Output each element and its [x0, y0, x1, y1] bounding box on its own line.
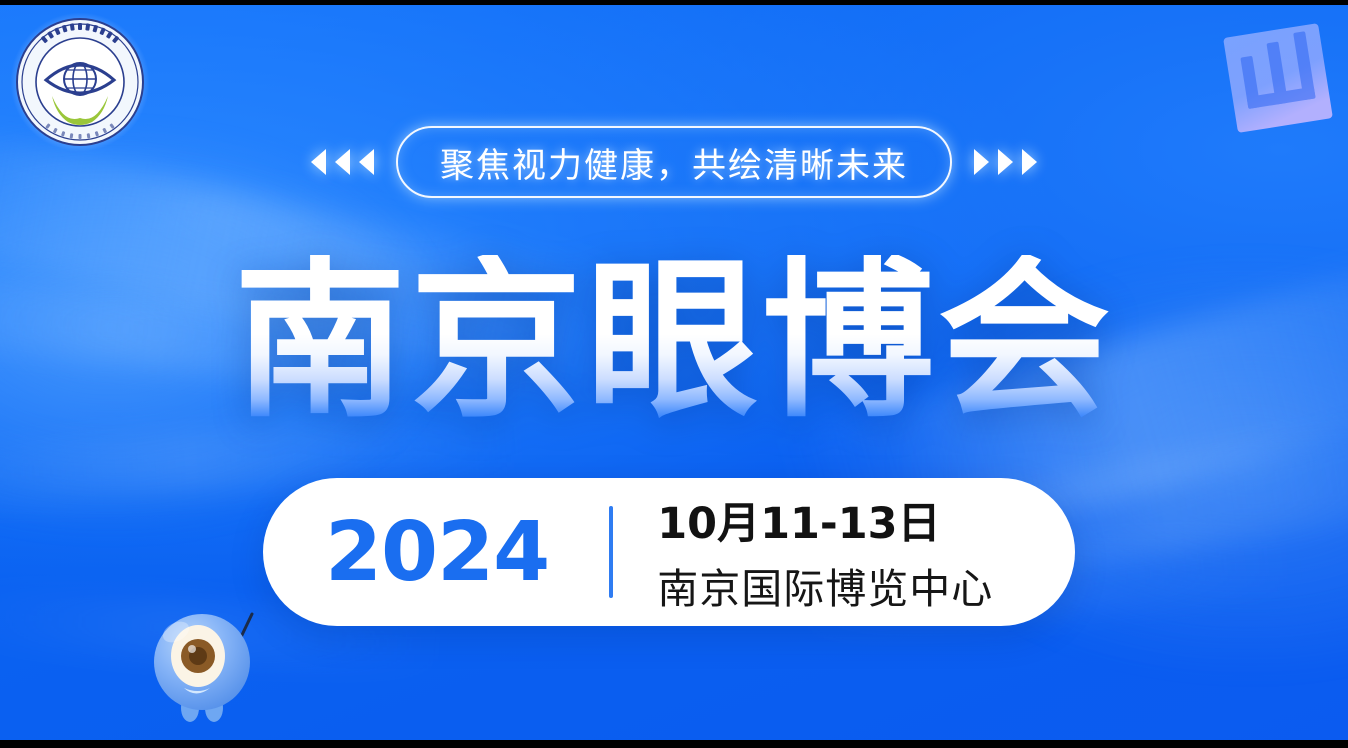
event-info-card: 2024 10月11-13日 南京国际博览中心 [263, 478, 1075, 626]
main-title-text: 南京眼博会 [234, 255, 1114, 427]
tagline-row: 聚焦视力健康，共绘清晰未来 [0, 124, 1348, 200]
eyeball-mascot-icon [148, 604, 272, 736]
tagline-text: 聚焦视力健康，共绘清晰未来 [440, 138, 908, 187]
event-details: 10月11-13日 南京国际博览中心 [657, 489, 993, 615]
event-date: 10月11-13日 [657, 489, 993, 551]
triangle-left-icon [359, 149, 374, 175]
letterbox-bottom [0, 740, 1348, 748]
triangle-right-icon [1022, 149, 1037, 175]
triangle-right-icon [974, 149, 989, 175]
shan-mountain-mark-icon [1219, 19, 1338, 138]
tagline-pill: 聚焦视力健康，共绘清晰未来 [396, 126, 952, 198]
letterbox-top [0, 0, 1348, 5]
right-arrows [974, 149, 1037, 175]
main-title: 南京眼博会 [0, 255, 1348, 427]
left-arrows [311, 149, 374, 175]
triangle-right-icon [998, 149, 1013, 175]
card-divider [609, 506, 613, 598]
event-venue: 南京国际博览中心 [657, 555, 993, 615]
event-poster: 聚焦视力健康，共绘清晰未来 南京眼博会 2024 10月11-13日 南京国际博… [0, 0, 1348, 748]
triangle-left-icon [335, 149, 350, 175]
event-year: 2024 [325, 505, 549, 600]
triangle-left-icon [311, 149, 326, 175]
